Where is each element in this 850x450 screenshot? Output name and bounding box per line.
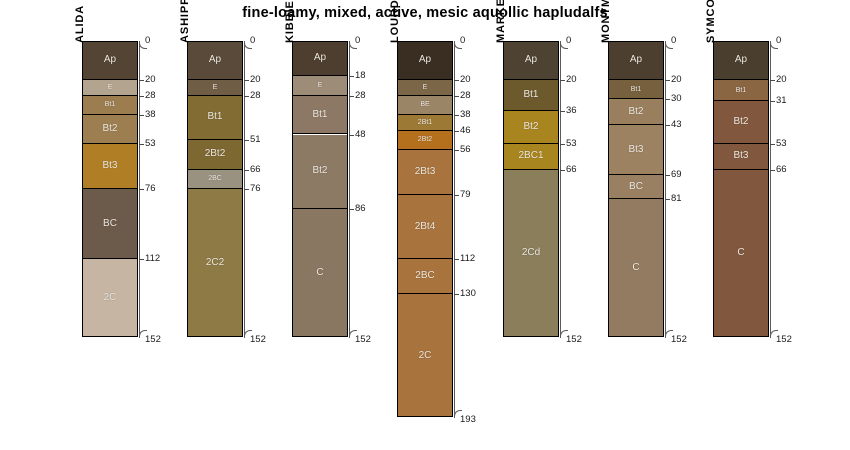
depth-tick (454, 294, 459, 295)
horizon-label: BE (420, 101, 429, 108)
profile-name-label: MONTMORENCI (600, 0, 612, 43)
profile-name-label: KIBBIE (284, 0, 296, 43)
depth-tick (665, 199, 670, 200)
soil-horizon: 2Bt1 (398, 115, 452, 131)
soil-horizon: Ap (83, 41, 137, 80)
depth-tick-label: 76 (145, 184, 156, 194)
profile-bar: ApBt1Bt2Bt3BCC (608, 41, 664, 337)
soil-horizon: BC (83, 189, 137, 259)
depth-tick (139, 259, 144, 260)
depth-tick (139, 80, 144, 81)
horizon-label: Ap (735, 55, 747, 65)
depth-tick-label: 56 (460, 145, 471, 155)
horizon-label: Bt2 (102, 124, 117, 134)
depth-tick-label: 0 (776, 36, 781, 46)
depth-tick-label: 53 (145, 139, 156, 149)
soil-horizon: Bt2 (83, 115, 137, 144)
horizon-label: 2Bt4 (415, 222, 436, 232)
profile-name-label: ALIDA (74, 5, 86, 43)
depth-tick-label: 46 (460, 126, 471, 136)
horizon-label: Bt1 (105, 101, 116, 108)
horizon-label: Ap (525, 55, 537, 65)
soil-horizon: 2BC (188, 170, 242, 189)
depth-tick-label: 0 (671, 36, 676, 46)
soil-horizon: Bt1 (714, 80, 768, 101)
soil-horizon: 2Bt3 (398, 150, 452, 195)
depth-tick-label: 20 (250, 75, 261, 85)
depth-tick-label: 20 (566, 75, 577, 85)
depth-tick (454, 80, 459, 81)
depth-tick (770, 170, 775, 171)
soil-horizon: Bt3 (714, 144, 768, 169)
horizon-label: Bt3 (102, 161, 117, 171)
horizon-label: Bt3 (628, 145, 643, 155)
horizon-label: Bt2 (628, 107, 643, 117)
depth-tick-label: 66 (776, 165, 787, 175)
depth-tick (139, 189, 144, 190)
profile-name-label: LOURDES (389, 0, 401, 43)
depth-tick-label: 152 (145, 335, 161, 345)
depth-tick (454, 195, 459, 196)
depth-tick-label: 20 (776, 75, 787, 85)
horizon-label: 2C (104, 293, 117, 303)
depth-tick (560, 111, 565, 112)
profile-bar: ApEBE2Bt12Bt22Bt32Bt42BC2C (397, 41, 453, 417)
horizon-label: 2BC (208, 175, 222, 182)
page-title: fine-loamy, mixed, active, mesic aquolli… (0, 0, 850, 21)
depth-tick (770, 80, 775, 81)
depth-tick (244, 189, 249, 190)
horizon-label: C (737, 248, 744, 258)
soil-horizon: Ap (714, 41, 768, 80)
depth-tick-label: 38 (145, 110, 156, 120)
horizon-label: E (318, 82, 323, 89)
depth-tick-label: 79 (460, 190, 471, 200)
depth-tick (349, 209, 354, 210)
soil-horizon: C (714, 170, 768, 338)
soil-horizon: Bt2 (293, 135, 347, 209)
horizon-label: Bt2 (312, 166, 327, 176)
depth-tick (560, 80, 565, 81)
depth-tick-label: 28 (355, 91, 366, 101)
horizon-label: Bt1 (736, 87, 747, 94)
soil-horizon: Ap (504, 41, 558, 80)
depth-tick (139, 96, 144, 97)
depth-tick (560, 170, 565, 171)
depth-tick (349, 76, 354, 77)
depth-tick (665, 99, 670, 100)
depth-tick-label: 112 (460, 254, 475, 264)
soil-horizon: Ap (609, 41, 663, 80)
horizon-label: Bt1 (312, 110, 327, 120)
soil-horizon: BC (609, 175, 663, 198)
depth-tick (349, 135, 354, 136)
depth-tick-label: 28 (145, 91, 156, 101)
soil-horizon: Bt2 (609, 99, 663, 124)
depth-tick-label: 0 (355, 36, 360, 46)
horizon-label: Bt1 (631, 86, 642, 93)
depth-tick (665, 80, 670, 81)
profile-name-label: SYMCO (705, 0, 717, 43)
soil-horizon: C (609, 199, 663, 337)
horizon-label: Bt1 (523, 90, 538, 100)
depth-tick-label: 53 (566, 139, 577, 149)
depth-tick-label: 36 (566, 106, 577, 116)
depth-tick-label: 0 (145, 36, 150, 46)
depth-tick-label: 193 (460, 415, 476, 425)
soil-horizon: Ap (398, 41, 452, 80)
depth-tick-label: 43 (671, 120, 682, 130)
depth-tick-label: 51 (250, 135, 261, 145)
soil-horizon: E (398, 80, 452, 96)
depth-axis-line (665, 41, 666, 337)
depth-tick-label: 30 (671, 94, 682, 104)
depth-tick-label: 66 (250, 165, 261, 175)
soil-horizon: Bt1 (609, 80, 663, 99)
depth-tick-label: 20 (145, 75, 156, 85)
soil-horizon: Bt1 (83, 96, 137, 115)
horizon-label: Bt2 (733, 117, 748, 127)
depth-tick (349, 96, 354, 97)
depth-tick-label: 20 (671, 75, 682, 85)
depth-tick (454, 259, 459, 260)
horizon-label: C (316, 268, 323, 278)
depth-tick (560, 144, 565, 145)
soil-horizon: 2C (398, 294, 452, 417)
depth-tick-label: 112 (145, 254, 160, 264)
horizon-label: Bt2 (523, 122, 538, 132)
horizon-label: Ap (209, 55, 221, 65)
soil-horizon: E (188, 80, 242, 96)
depth-tick-label: 0 (460, 36, 465, 46)
depth-tick-label: 76 (250, 184, 261, 194)
soil-horizon: Bt3 (83, 144, 137, 189)
horizon-label: E (108, 84, 113, 91)
horizon-label: Ap (419, 55, 431, 65)
depth-axis-line (560, 41, 561, 337)
depth-tick-label: 28 (460, 91, 471, 101)
soil-horizon: Bt1 (188, 96, 242, 141)
depth-tick-label: 0 (250, 36, 255, 46)
profile-bar: ApBt1Bt2Bt3C (713, 41, 769, 337)
horizon-label: 2Cd (522, 248, 540, 258)
depth-tick (244, 170, 249, 171)
soil-horizon: 2Bt2 (398, 131, 452, 150)
horizon-label: Ap (630, 55, 642, 65)
horizon-label: E (213, 84, 218, 91)
depth-tick (244, 140, 249, 141)
soil-horizon: Bt2 (714, 101, 768, 144)
depth-tick-label: 20 (460, 75, 471, 85)
soil-horizon: E (293, 76, 347, 95)
soil-horizon: C (293, 209, 347, 338)
soil-horizon: E (83, 80, 137, 96)
depth-tick (770, 101, 775, 102)
horizon-label: 2Bt3 (415, 167, 436, 177)
horizon-label: 2Bt1 (418, 119, 432, 126)
depth-tick-label: 152 (250, 335, 266, 345)
depth-tick-label: 0 (566, 36, 571, 46)
horizon-label: Ap (104, 55, 116, 65)
profile-bar: ApEBt12Bt22BC2C2 (187, 41, 243, 337)
soil-horizon: Bt2 (504, 111, 558, 144)
horizon-label: 2C2 (206, 258, 224, 268)
soil-horizon: 2Bt2 (188, 140, 242, 169)
horizon-label: 2Bt2 (418, 136, 432, 143)
soil-horizon: 2BC1 (504, 144, 558, 169)
depth-tick (665, 175, 670, 176)
depth-tick-label: 152 (355, 335, 371, 345)
horizon-label: Bt3 (733, 151, 748, 161)
soil-horizon: Ap (188, 41, 242, 80)
profile-name-label: MARKER (495, 0, 507, 43)
depth-axis-line (770, 41, 771, 337)
horizon-label: 2BC1 (518, 151, 543, 161)
soil-horizon: Bt1 (504, 80, 558, 111)
horizon-label: Bt1 (207, 112, 222, 122)
depth-tick-label: 152 (776, 335, 792, 345)
horizon-label: Ap (314, 53, 326, 63)
depth-tick-label: 69 (671, 170, 682, 180)
soil-horizon: 2Cd (504, 170, 558, 338)
soil-horizon: Bt3 (609, 125, 663, 176)
soil-horizon: 2C2 (188, 189, 242, 337)
soil-horizon: 2BC (398, 259, 452, 294)
depth-axis-line (454, 41, 455, 417)
depth-tick (454, 115, 459, 116)
horizon-label: BC (103, 219, 117, 229)
depth-tick (454, 96, 459, 97)
depth-tick (139, 144, 144, 145)
soil-horizon: BE (398, 96, 452, 115)
depth-tick (244, 80, 249, 81)
profile-bar: ApEBt1Bt2Bt3BC2C (82, 41, 138, 337)
depth-tick-label: 28 (250, 91, 261, 101)
depth-tick-label: 152 (566, 335, 582, 345)
horizon-label: 2Bt2 (205, 149, 226, 159)
depth-tick (665, 125, 670, 126)
depth-tick-label: 130 (460, 289, 476, 299)
profile-bar: ApBt1Bt22BC12Cd (503, 41, 559, 337)
depth-tick-label: 66 (566, 165, 577, 175)
horizon-label: 2BC (415, 271, 434, 281)
depth-axis-line (349, 41, 350, 337)
soil-horizon: Ap (293, 41, 347, 76)
depth-tick (244, 96, 249, 97)
profile-bar: ApEBt1Bt2C (292, 41, 348, 337)
horizon-label: C (632, 263, 639, 273)
horizon-label: 2C (419, 351, 432, 361)
soil-horizon: 2C (83, 259, 137, 337)
depth-tick (139, 115, 144, 116)
depth-tick-label: 48 (355, 130, 366, 140)
depth-tick (454, 150, 459, 151)
horizon-label: E (423, 84, 428, 91)
depth-tick-label: 152 (671, 335, 687, 345)
depth-tick-label: 86 (355, 204, 366, 214)
depth-tick (770, 144, 775, 145)
depth-tick-label: 31 (776, 96, 787, 106)
depth-tick (454, 131, 459, 132)
depth-tick-label: 81 (671, 194, 682, 204)
profile-name-label: ASHIPPUN (179, 0, 191, 43)
depth-tick-label: 38 (460, 110, 471, 120)
horizon-label: BC (629, 182, 643, 192)
depth-tick-label: 18 (355, 71, 366, 81)
soil-horizon: Bt1 (293, 96, 347, 135)
depth-tick-label: 53 (776, 139, 787, 149)
soil-horizon: 2Bt4 (398, 195, 452, 259)
